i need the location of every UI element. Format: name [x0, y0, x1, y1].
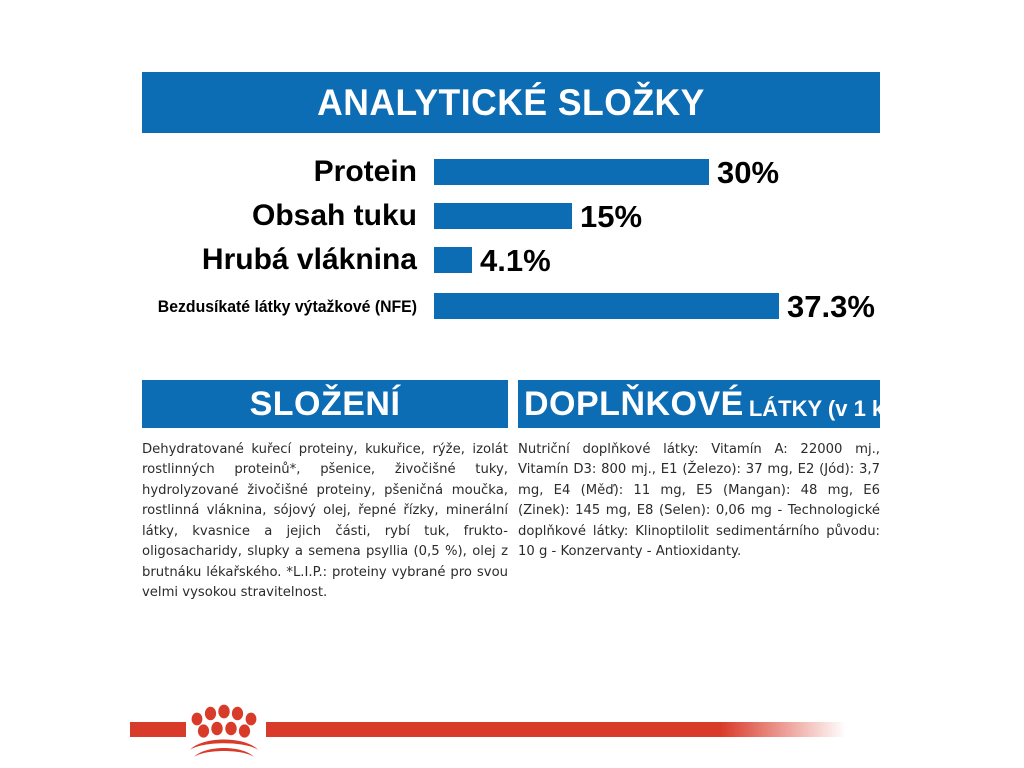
composition-section: SLOŽENÍ Dehydratované kuřecí proteiny, k…: [142, 380, 508, 604]
analytical-composition-title: ANALYTICKÉ SLOŽKY: [317, 82, 705, 124]
composition-header-title: SLOŽENÍ: [250, 385, 401, 424]
chart-row: Obsah tuku 15%: [128, 196, 908, 236]
analytical-composition-banner: ANALYTICKÉ SLOŽKY: [142, 72, 880, 133]
bar-label-nfe: Bezdusíkaté látky výtažkové (NFE): [148, 298, 417, 315]
bar-fill-nfe: [434, 293, 779, 319]
additives-header-subtitle: LÁTKY (v 1 kg): [749, 396, 880, 428]
additives-header: DOPLŇKOVÉ LÁTKY (v 1 kg): [518, 380, 880, 428]
nutrition-bar-chart: Protein 30% Obsah tuku 15% Hrubá vláknin…: [128, 152, 908, 337]
bar-value-fat: 15%: [580, 201, 642, 232]
bar-label-fibre: Hrubá vláknina: [128, 245, 417, 275]
bar-track: 15%: [417, 196, 908, 236]
bar-track: 37.3%: [417, 286, 908, 326]
bar-label-protein: Protein: [128, 157, 417, 187]
bar-track: 4.1%: [417, 240, 908, 280]
additives-header-title: DOPLŇKOVÉ: [524, 385, 744, 424]
bar-fill-protein: [434, 159, 709, 185]
chart-row: Protein 30%: [128, 152, 908, 192]
bar-value-nfe: 37.3%: [787, 291, 875, 322]
bar-fill-fat: [434, 203, 572, 229]
additives-body-text: Nutriční doplňkové látky: Vitamín A: 220…: [518, 440, 880, 563]
bar-value-protein: 30%: [717, 157, 779, 188]
chart-row: Bezdusíkaté látky výtažkové (NFE) 37.3%: [128, 286, 908, 326]
royal-canin-crown-icon: [176, 700, 272, 760]
red-stripe-right: [266, 722, 846, 737]
bar-fill-fibre: [434, 247, 472, 273]
chart-row: Hrubá vláknina 4.1%: [128, 240, 908, 280]
composition-header: SLOŽENÍ: [142, 380, 508, 428]
footer-brand-bar: [0, 700, 1024, 768]
bar-value-fibre: 4.1%: [480, 245, 551, 276]
additives-section: DOPLŇKOVÉ LÁTKY (v 1 kg) Nutriční doplňk…: [518, 380, 880, 563]
composition-body-text: Dehydratované kuřecí proteiny, kukuřice,…: [142, 440, 508, 604]
bar-track: 30%: [417, 152, 908, 192]
bar-label-fat: Obsah tuku: [128, 201, 417, 231]
